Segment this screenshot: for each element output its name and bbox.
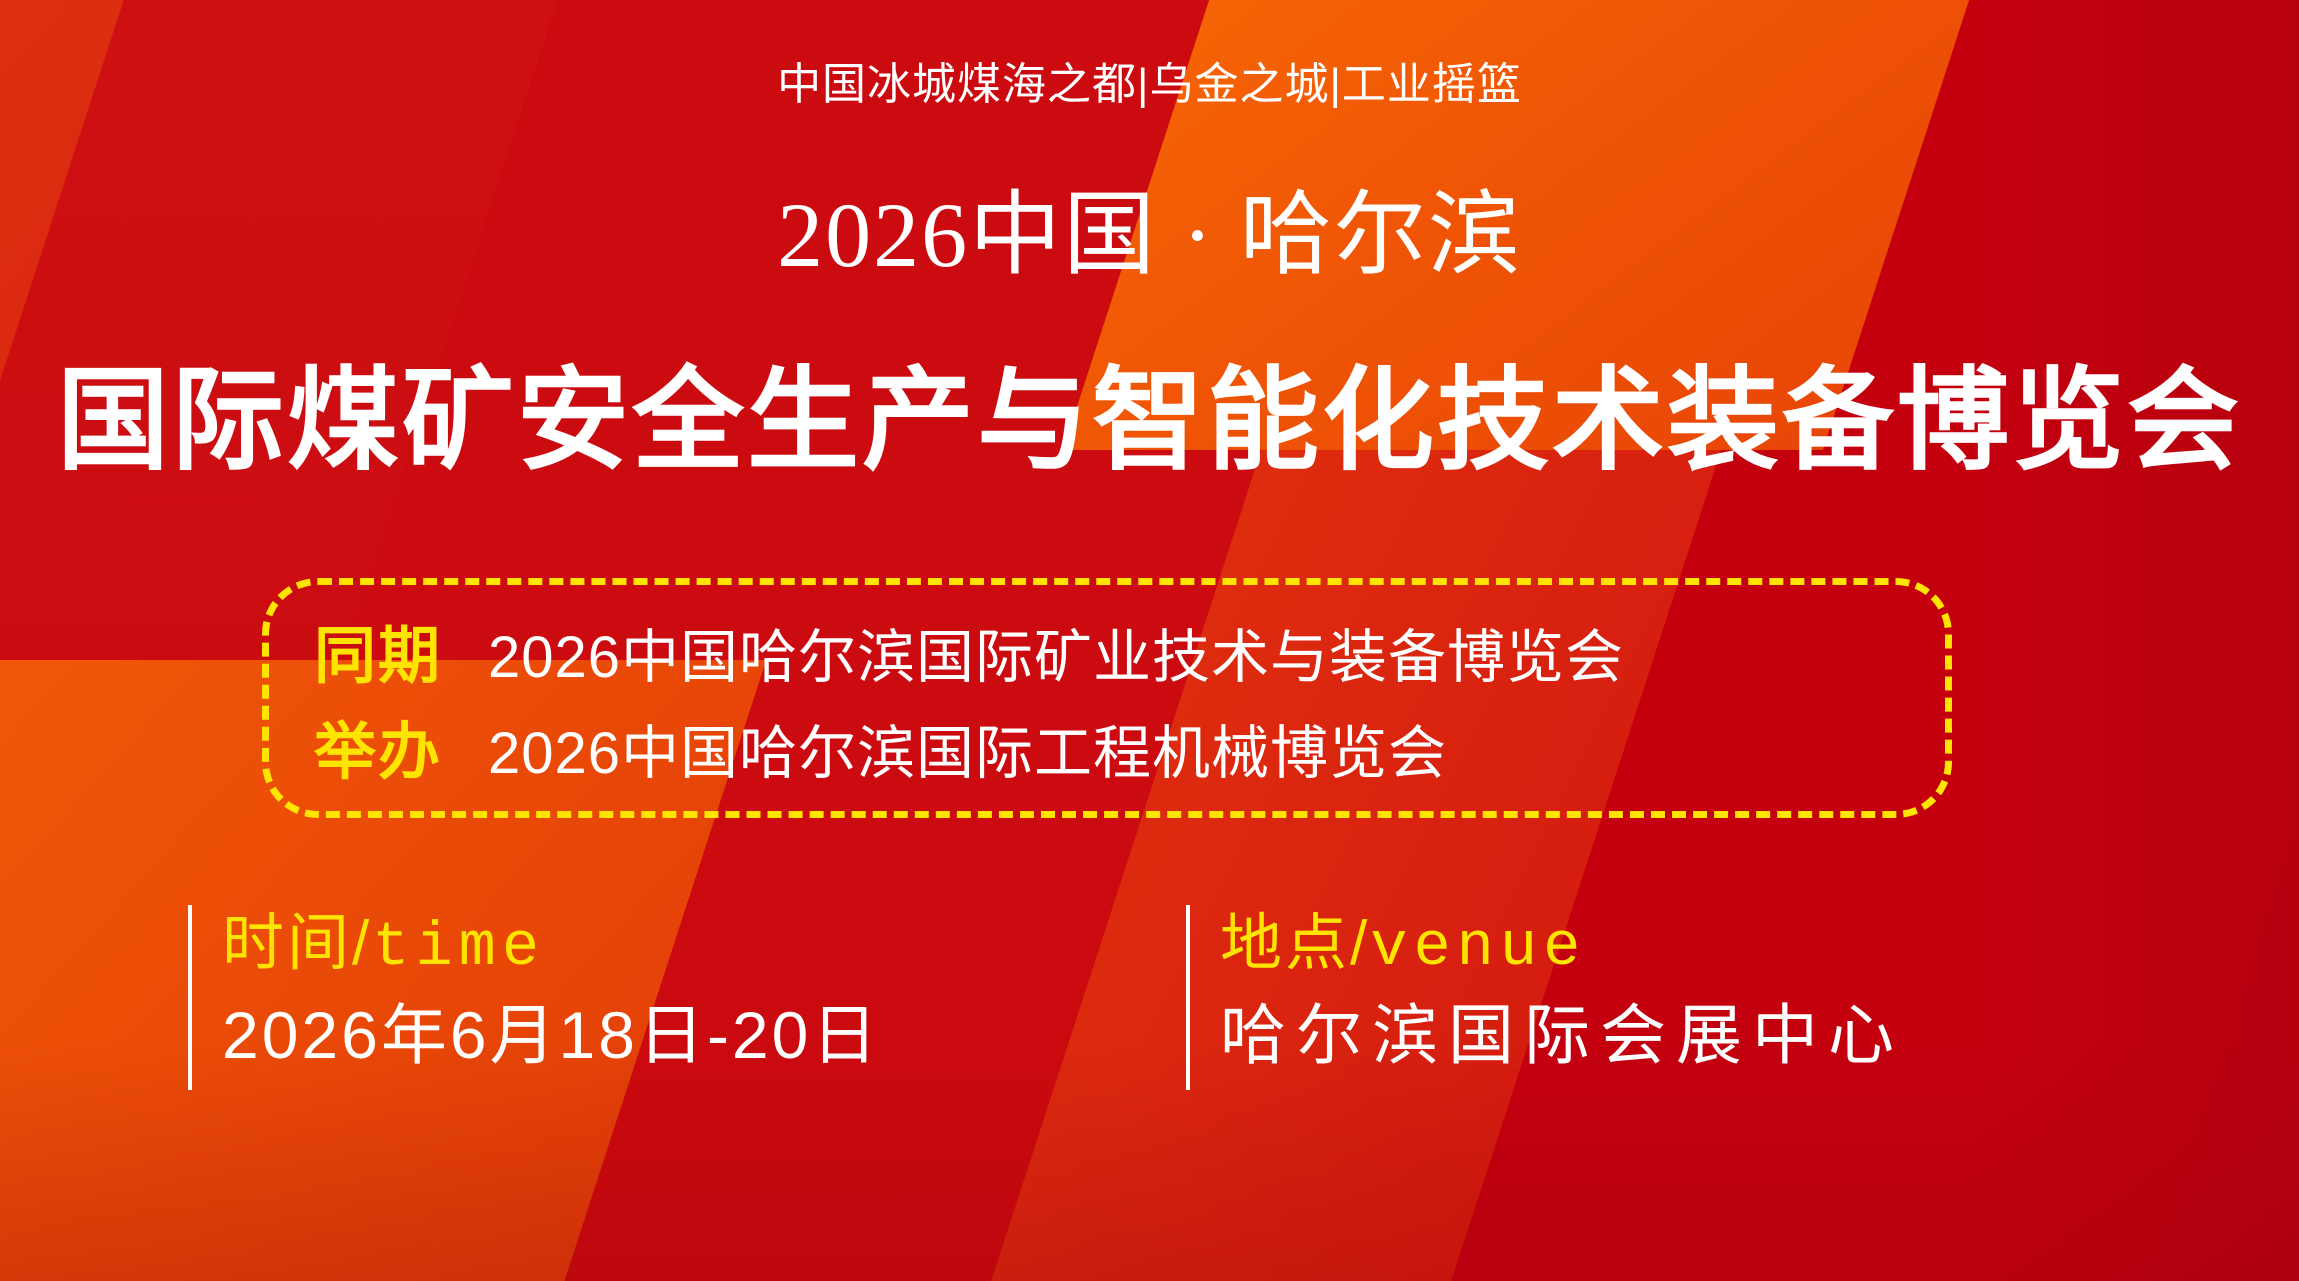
concurrent-event-row: 举办 2026中国哈尔滨国际工程机械博览会 xyxy=(314,701,1952,791)
event-venue-label-cn: 地点 xyxy=(1220,909,1350,978)
event-banner: 中国冰城煤海之都|乌金之城|工业摇篮 2026中国 · 哈尔滨 国际煤矿安全生产… xyxy=(0,0,2299,1281)
concurrent-event-tag: 同期 xyxy=(314,605,474,695)
concurrent-event-row: 同期 2026中国哈尔滨国际矿业技术与装备博览会 xyxy=(314,605,1952,695)
concurrent-event-name: 2026中国哈尔滨国际矿业技术与装备博览会 xyxy=(488,610,1624,694)
event-time-label: 时间/time xyxy=(222,905,880,987)
concurrent-events-list: 同期 2026中国哈尔滨国际矿业技术与装备博览会 举办 2026中国哈尔滨国际工… xyxy=(262,578,1952,818)
event-venue-label-separator: / xyxy=(1350,909,1370,978)
event-time-block: 时间/time 2026年6月18日-20日 xyxy=(188,905,880,1090)
event-title: 国际煤矿安全生产与智能化技术装备博览会 xyxy=(0,330,2299,492)
event-venue-label-en: venue xyxy=(1370,912,1586,983)
event-time-label-separator: / xyxy=(352,909,372,978)
event-venue-block: 地点/venue 哈尔滨国际会展中心 xyxy=(1186,905,1904,1090)
concurrent-event-name: 2026中国哈尔滨国际工程机械博览会 xyxy=(488,706,1447,790)
banner-content: 中国冰城煤海之都|乌金之城|工业摇篮 2026中国 · 哈尔滨 国际煤矿安全生产… xyxy=(0,0,2299,1281)
event-venue-value: 哈尔滨国际会展中心 xyxy=(1220,993,1904,1079)
event-venue-label: 地点/venue xyxy=(1220,905,1904,987)
event-year-location: 2026中国 · 哈尔滨 xyxy=(0,160,2299,293)
concurrent-event-tag: 举办 xyxy=(314,701,474,791)
event-time-label-cn: 时间 xyxy=(222,909,352,978)
event-time-label-en: time xyxy=(372,912,545,983)
city-tagline: 中国冰城煤海之都|乌金之城|工业摇篮 xyxy=(0,48,2299,112)
event-time-value: 2026年6月18日-20日 xyxy=(222,993,880,1079)
